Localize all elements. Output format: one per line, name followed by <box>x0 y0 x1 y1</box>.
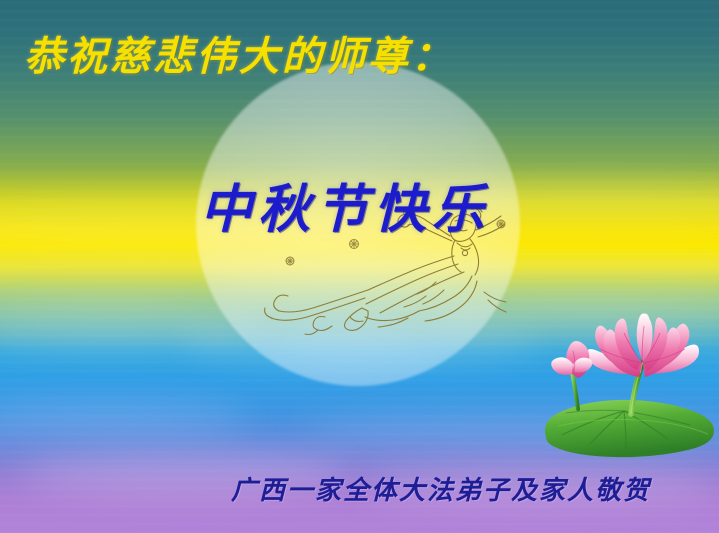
greeting-card: 恭祝慈悲伟大的师尊： 中秋节快乐 广西一家全体大法弟子及家人敬贺 <box>0 0 719 533</box>
signature-text: 广西一家全体大法弟子及家人敬贺 <box>231 470 651 507</box>
top-greeting-text: 恭祝慈悲伟大的师尊： <box>24 24 454 82</box>
main-greeting-text: 中秋节快乐 <box>200 167 490 242</box>
